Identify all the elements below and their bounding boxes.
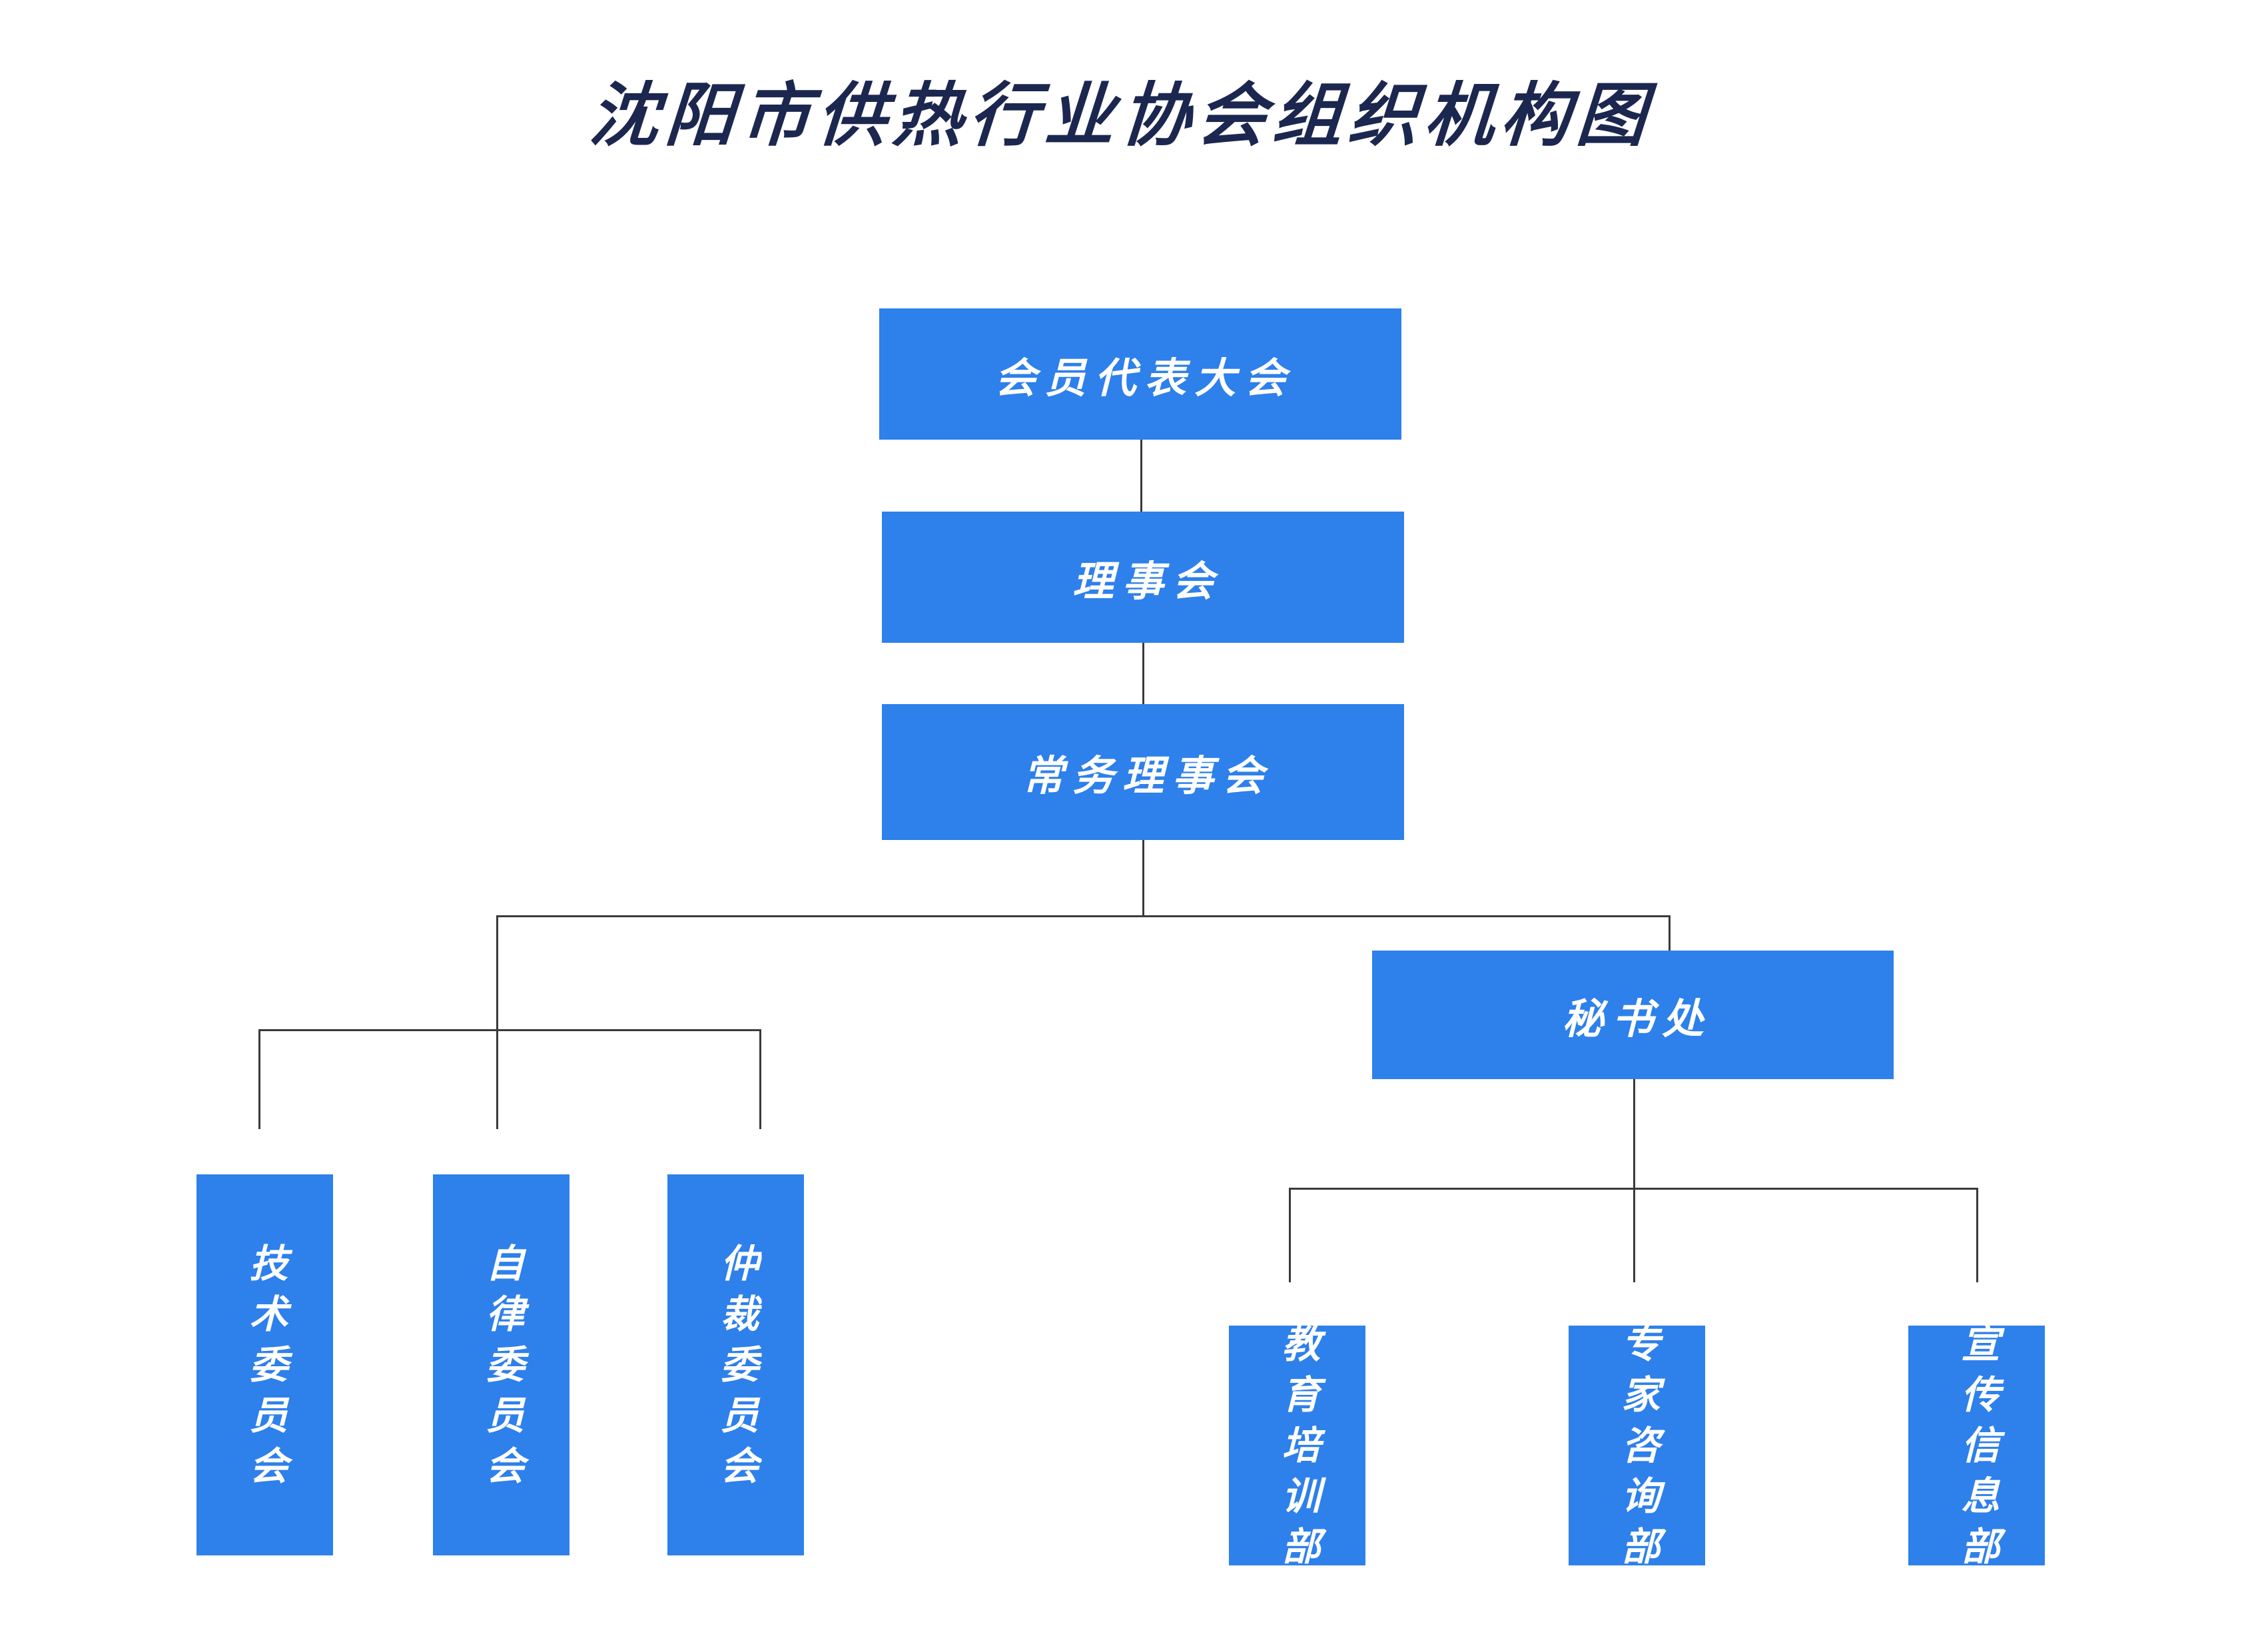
node-committee-1[interactable]: 技术委员会 bbox=[196, 1174, 333, 1555]
node-department-2[interactable]: 专家咨询部 bbox=[1569, 1326, 1705, 1565]
connector-committee-drop-2 bbox=[496, 1029, 498, 1129]
connector-department-bar bbox=[1289, 1188, 1976, 1190]
node-committee-1-label: 技术委员会 bbox=[237, 1243, 293, 1496]
connector-main-bar-to-committee-bar bbox=[496, 915, 498, 1029]
connector-standing-board-trunk bbox=[1142, 840, 1144, 915]
node-department-3[interactable]: 宣传信息部 bbox=[1908, 1326, 2045, 1565]
connector-department-drop-3 bbox=[1976, 1188, 1978, 1282]
connector-committee-drop-1 bbox=[258, 1029, 260, 1129]
connector-main-split-bar bbox=[496, 915, 1669, 917]
node-committee-3-label: 仲裁委员会 bbox=[708, 1243, 764, 1496]
node-standing-board-label: 常务理事会 bbox=[1014, 742, 1272, 802]
node-board-label: 理事会 bbox=[1064, 548, 1222, 608]
connector-assembly-to-board bbox=[1140, 440, 1142, 512]
node-committee-2[interactable]: 自律委员会 bbox=[433, 1174, 569, 1555]
node-committee-3[interactable]: 仲裁委员会 bbox=[667, 1174, 804, 1555]
node-department-1[interactable]: 教育培训部 bbox=[1229, 1326, 1365, 1565]
connector-department-drop-1 bbox=[1289, 1188, 1291, 1282]
connector-secretariat-trunk bbox=[1633, 1079, 1635, 1188]
connector-committee-drop-3 bbox=[759, 1029, 761, 1129]
node-department-1-label: 教育培训部 bbox=[1270, 1326, 1325, 1565]
node-secretariat-label: 秘书处 bbox=[1553, 985, 1712, 1045]
node-committee-2-label: 自律委员会 bbox=[474, 1243, 530, 1496]
node-department-2-label: 专家咨询部 bbox=[1609, 1326, 1665, 1565]
connector-main-bar-to-secretariat bbox=[1669, 915, 1671, 951]
page-title: 沈阳市供热行业协会组织机构图 bbox=[0, 79, 2242, 155]
node-secretariat[interactable]: 秘书处 bbox=[1372, 951, 1894, 1079]
connector-department-drop-2 bbox=[1633, 1188, 1635, 1282]
connector-board-to-standing-board bbox=[1142, 643, 1144, 704]
node-board[interactable]: 理事会 bbox=[882, 512, 1404, 643]
node-standing-board[interactable]: 常务理事会 bbox=[882, 704, 1404, 840]
org-chart-canvas: 沈阳市供热行业协会组织机构图 会员代表大会 理事会 常务理事会 技术委员会 自律… bbox=[0, 0, 2242, 1652]
node-assembly-label: 会员代表大会 bbox=[986, 344, 1294, 404]
node-assembly[interactable]: 会员代表大会 bbox=[879, 308, 1401, 440]
node-department-3-label: 宣传信息部 bbox=[1949, 1326, 2005, 1565]
connector-committee-bar bbox=[258, 1029, 759, 1031]
